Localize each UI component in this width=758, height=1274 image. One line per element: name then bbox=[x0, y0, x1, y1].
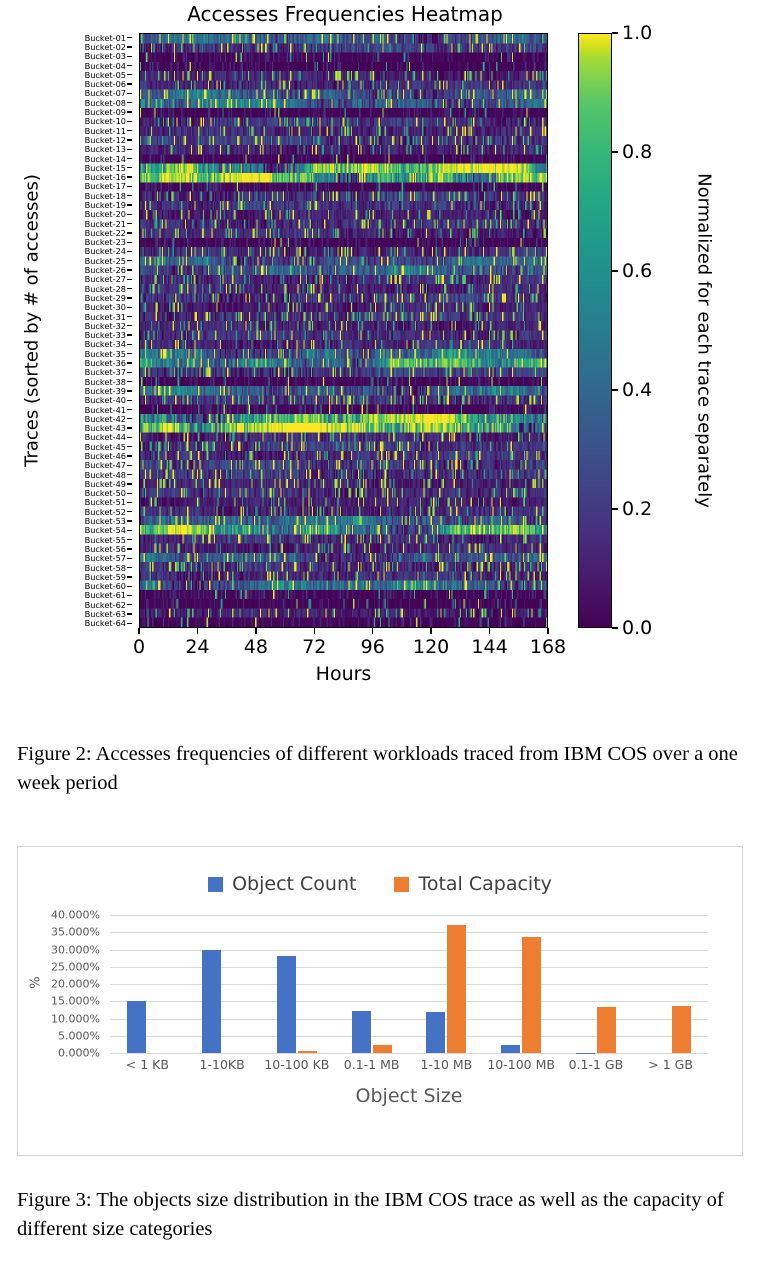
heatmap-y-tick-mark bbox=[127, 46, 132, 47]
figure-2-heatmap: Accesses Frequencies Heatmap Traces (sor… bbox=[0, 0, 758, 720]
heatmap-x-tick-mark bbox=[430, 628, 431, 634]
colorbar-tick-0.6: 0.6 bbox=[622, 260, 652, 282]
heatmap-y-tick-mark bbox=[127, 251, 132, 252]
heatmap-y-tick-64: Bucket-64 bbox=[85, 618, 126, 628]
heatmap-y-tick-mark bbox=[127, 530, 132, 531]
heatmap-y-tick-mark bbox=[127, 390, 132, 391]
heatmap-y-tick-mark bbox=[127, 297, 132, 298]
heatmap-x-tick-mark bbox=[314, 628, 315, 634]
heatmap-y-tick-mark bbox=[127, 437, 132, 438]
bar-x-tick-8: > 1 GB bbox=[648, 1057, 693, 1072]
bar-x-tick-1: < 1 KB bbox=[126, 1057, 169, 1072]
bar-total-capacity[interactable] bbox=[447, 925, 466, 1053]
heatmap-y-tick-mark bbox=[127, 65, 132, 66]
bar-total-capacity[interactable] bbox=[672, 1006, 691, 1053]
bar-x-tick-7: 0.1-1 GB bbox=[569, 1057, 624, 1072]
bar-y-tick-40: 40.000% bbox=[51, 909, 100, 922]
bar-chart-x-tick-labels: < 1 KB1-10KB10-100 KB0.1-1 MB1-10 MB10-1… bbox=[110, 1057, 708, 1079]
colorbar-tick-0.4: 0.4 bbox=[622, 379, 652, 401]
gridline bbox=[110, 1053, 708, 1054]
heatmap-y-axis-title: Traces (sorted by # of accesses) bbox=[22, 121, 43, 521]
heatmap-y-tick-mark bbox=[127, 74, 132, 75]
heatmap-y-tick-mark bbox=[127, 353, 132, 354]
bar-group-5 bbox=[409, 915, 484, 1053]
bar-object-count[interactable] bbox=[426, 1012, 445, 1053]
heatmap-y-tick-mark bbox=[127, 586, 132, 587]
heatmap-y-tick-mark bbox=[127, 595, 132, 596]
heatmap-y-tick-mark bbox=[127, 465, 132, 466]
heatmap-x-tick-0: 0 bbox=[133, 636, 145, 658]
heatmap-y-tick-mark bbox=[127, 576, 132, 577]
heatmap-y-tick-mark bbox=[127, 158, 132, 159]
bar-x-tick-3: 10-100 KB bbox=[264, 1057, 329, 1072]
bar-x-tick-4: 0.1-1 MB bbox=[344, 1057, 400, 1072]
bar-object-count[interactable] bbox=[277, 956, 296, 1053]
heatmap-y-tick-mark bbox=[127, 334, 132, 335]
colorbar-tick-mark bbox=[612, 508, 618, 509]
bar-object-count[interactable] bbox=[501, 1045, 520, 1053]
heatmap-y-tick-mark bbox=[127, 511, 132, 512]
bar-x-tick-5: 1-10 MB bbox=[421, 1057, 473, 1072]
heatmap-y-tick-mark bbox=[127, 307, 132, 308]
heatmap-y-tick-mark bbox=[127, 279, 132, 280]
bar-object-count[interactable] bbox=[352, 1011, 371, 1053]
heatmap-y-tick-mark bbox=[127, 548, 132, 549]
bar-chart-y-axis-title: % bbox=[29, 963, 44, 1003]
heatmap-y-tick-mark bbox=[127, 204, 132, 205]
bar-total-capacity[interactable] bbox=[298, 1051, 317, 1053]
heatmap-y-tick-mark bbox=[127, 288, 132, 289]
heatmap-x-tick-mark bbox=[372, 628, 373, 634]
figure-2-caption: Figure 2: Accesses frequencies of differ… bbox=[17, 740, 743, 798]
legend-item-1[interactable]: Object Count bbox=[208, 873, 356, 895]
heatmap-y-tick-mark bbox=[127, 409, 132, 410]
colorbar-tick-mark bbox=[612, 32, 618, 33]
bar-y-tick-15: 15.000% bbox=[51, 995, 100, 1008]
heatmap-x-tick-120: 120 bbox=[413, 636, 449, 658]
heatmap-y-tick-mark bbox=[127, 260, 132, 261]
heatmap-y-tick-mark bbox=[127, 418, 132, 419]
bar-object-count[interactable] bbox=[127, 1001, 146, 1053]
heatmap-x-tick-mark bbox=[547, 628, 548, 634]
bar-total-capacity[interactable] bbox=[597, 1007, 616, 1053]
heatmap-y-tick-mark bbox=[127, 427, 132, 428]
heatmap-y-tick-mark bbox=[127, 400, 132, 401]
heatmap-y-tick-mark bbox=[127, 111, 132, 112]
heatmap-x-tick-72: 72 bbox=[302, 636, 326, 658]
bar-y-tick-5: 5.000% bbox=[58, 1029, 100, 1042]
heatmap-x-tick-48: 48 bbox=[244, 636, 268, 658]
heatmap-y-tick-mark bbox=[127, 195, 132, 196]
heatmap-image bbox=[140, 34, 547, 627]
bar-chart-plot-area bbox=[110, 915, 708, 1053]
heatmap-y-tick-mark bbox=[127, 520, 132, 521]
bar-chart-x-axis-title: Object Size bbox=[110, 1085, 708, 1107]
heatmap-y-tick-mark bbox=[127, 149, 132, 150]
colorbar-tick-mark bbox=[612, 389, 618, 390]
bar-chart-bars bbox=[110, 915, 708, 1053]
heatmap-y-tick-mark bbox=[127, 381, 132, 382]
legend-item-2[interactable]: Total Capacity bbox=[394, 873, 551, 895]
heatmap-y-tick-mark bbox=[127, 325, 132, 326]
heatmap-y-tick-mark bbox=[127, 372, 132, 373]
heatmap-y-tick-mark bbox=[127, 176, 132, 177]
heatmap-y-tick-mark bbox=[127, 483, 132, 484]
heatmap-y-tick-mark bbox=[127, 130, 132, 131]
bar-group-7 bbox=[559, 915, 634, 1053]
heatmap-x-axis-title: Hours bbox=[139, 663, 548, 685]
bar-group-4 bbox=[334, 915, 409, 1053]
heatmap-y-tick-mark bbox=[127, 502, 132, 503]
bar-x-tick-2: 1-10KB bbox=[200, 1057, 245, 1072]
heatmap-x-tick-mark bbox=[138, 628, 139, 634]
heatmap-y-tick-mark bbox=[127, 56, 132, 57]
bar-group-2 bbox=[185, 915, 260, 1053]
heatmap-x-tick-mark bbox=[489, 628, 490, 634]
figure-3-caption: Figure 3: The objects size distribution … bbox=[17, 1186, 743, 1244]
heatmap-y-tick-mark bbox=[127, 362, 132, 363]
bar-y-tick-25: 25.000% bbox=[51, 960, 100, 973]
heatmap-title: Accesses Frequencies Heatmap bbox=[130, 2, 560, 26]
heatmap-x-tick-labels: 024487296120144168 bbox=[139, 628, 548, 668]
bar-y-tick-0: 0.000% bbox=[58, 1047, 100, 1060]
colorbar-title: Normalized for each trace separately bbox=[694, 131, 715, 551]
bar-y-tick-35: 35.000% bbox=[51, 926, 100, 939]
bar-chart-legend: Object CountTotal Capacity bbox=[18, 873, 742, 895]
bar-total-capacity[interactable] bbox=[522, 937, 541, 1053]
heatmap-y-tick-mark bbox=[127, 223, 132, 224]
bar-y-tick-30: 30.000% bbox=[51, 943, 100, 956]
heatmap-y-tick-mark bbox=[127, 604, 132, 605]
colorbar-tick-0.2: 0.2 bbox=[622, 498, 652, 520]
legend-swatch-icon bbox=[208, 877, 223, 892]
colorbar-tick-0.0: 0.0 bbox=[622, 617, 652, 639]
legend-swatch-icon bbox=[394, 877, 409, 892]
figure-3-bar-chart: Object CountTotal Capacity 0.000%5.000%1… bbox=[17, 846, 743, 1156]
heatmap-plot-area bbox=[139, 33, 548, 628]
heatmap-y-tick-mark bbox=[127, 567, 132, 568]
bar-x-tick-6: 10-100 MB bbox=[487, 1057, 555, 1072]
heatmap-y-tick-mark bbox=[127, 37, 132, 38]
bar-group-1 bbox=[110, 915, 185, 1053]
bar-group-8 bbox=[633, 915, 708, 1053]
heatmap-y-tick-mark bbox=[127, 446, 132, 447]
heatmap-x-tick-24: 24 bbox=[185, 636, 209, 658]
heatmap-y-tick-mark bbox=[127, 455, 132, 456]
heatmap-y-tick-mark bbox=[127, 558, 132, 559]
heatmap-y-tick-mark bbox=[127, 214, 132, 215]
bar-group-3 bbox=[260, 915, 335, 1053]
heatmap-x-tick-mark bbox=[197, 628, 198, 634]
colorbar-tick-mark bbox=[612, 151, 618, 152]
bar-object-count[interactable] bbox=[202, 950, 221, 1054]
heatmap-y-tick-labels: Bucket-01Bucket-02Bucket-03Bucket-04Buck… bbox=[66, 33, 132, 628]
colorbar-tick-mark bbox=[612, 627, 618, 628]
heatmap-y-tick-mark bbox=[127, 83, 132, 84]
heatmap-y-tick-mark bbox=[127, 344, 132, 345]
heatmap-x-tick-mark bbox=[255, 628, 256, 634]
colorbar-gradient bbox=[578, 33, 612, 628]
heatmap-y-tick-mark bbox=[127, 613, 132, 614]
heatmap-y-tick-mark bbox=[127, 186, 132, 187]
heatmap-y-tick-mark bbox=[127, 232, 132, 233]
heatmap-x-tick-96: 96 bbox=[361, 636, 385, 658]
heatmap-y-tick-mark bbox=[127, 493, 132, 494]
heatmap-y-tick-mark bbox=[127, 316, 132, 317]
heatmap-y-tick-mark bbox=[127, 102, 132, 103]
heatmap-y-tick-mark bbox=[127, 539, 132, 540]
heatmap-x-tick-168: 168 bbox=[530, 636, 566, 658]
bar-y-tick-20: 20.000% bbox=[51, 978, 100, 991]
bar-group-6 bbox=[484, 915, 559, 1053]
heatmap-y-tick-mark bbox=[127, 121, 132, 122]
legend-label: Total Capacity bbox=[418, 873, 551, 895]
colorbar-tick-0.8: 0.8 bbox=[622, 141, 652, 163]
heatmap-y-tick-mark bbox=[127, 242, 132, 243]
heatmap-x-tick-144: 144 bbox=[471, 636, 507, 658]
legend-label: Object Count bbox=[232, 873, 356, 895]
bar-total-capacity[interactable] bbox=[373, 1045, 392, 1053]
colorbar-tick-1.0: 1.0 bbox=[622, 22, 652, 44]
heatmap-y-tick-mark bbox=[127, 93, 132, 94]
heatmap-y-tick-mark bbox=[127, 167, 132, 168]
heatmap-y-tick-mark bbox=[127, 474, 132, 475]
bar-y-tick-10: 10.000% bbox=[51, 1012, 100, 1025]
heatmap-y-tick-mark bbox=[127, 139, 132, 140]
heatmap-y-tick-mark bbox=[127, 269, 132, 270]
colorbar-tick-mark bbox=[612, 270, 618, 271]
colorbar-tick-labels: 0.00.20.40.60.81.0 bbox=[612, 33, 682, 628]
heatmap-y-tick-mark bbox=[127, 623, 132, 624]
